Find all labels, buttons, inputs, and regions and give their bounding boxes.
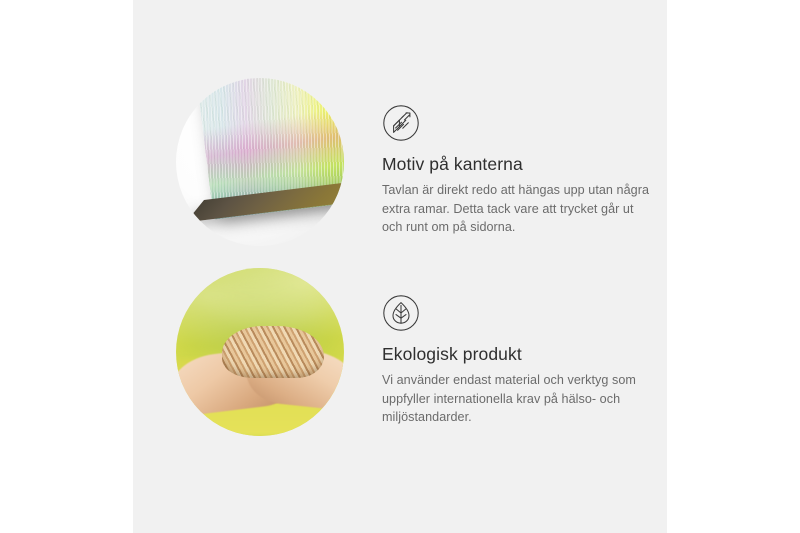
feature-row-ekologisk-produkt: Ekologisk produkt Vi använder endast mat… — [176, 268, 654, 436]
feature-copy: Motiv på kanterna Tavlan är direkt redo … — [344, 78, 654, 237]
feature-copy: Ekologisk produkt Vi använder endast mat… — [344, 268, 654, 427]
feature-image-wood-chips — [176, 268, 344, 436]
feature-title: Motiv på kanterna — [382, 154, 654, 174]
product-feature-panel: Motiv på kanterna Tavlan är direkt redo … — [0, 0, 800, 533]
wood-chips — [222, 326, 324, 378]
leaf-icon — [382, 294, 420, 332]
feature-title: Ekologisk produkt — [382, 344, 654, 364]
feature-description: Tavlan är direkt redo att hängas upp uta… — [382, 181, 654, 237]
left-white-band — [0, 0, 133, 533]
right-white-band — [667, 0, 800, 533]
feature-description: Vi använder endast material och verktyg … — [382, 371, 654, 427]
feature-image-canvas-print — [176, 78, 344, 246]
feature-row-motiv-pa-kanterna: Motiv på kanterna Tavlan är direkt redo … — [176, 78, 654, 246]
circle-photo-mask — [176, 268, 344, 436]
canvas-wrap-edge-icon — [382, 104, 420, 142]
circle-photo-mask — [176, 78, 344, 246]
